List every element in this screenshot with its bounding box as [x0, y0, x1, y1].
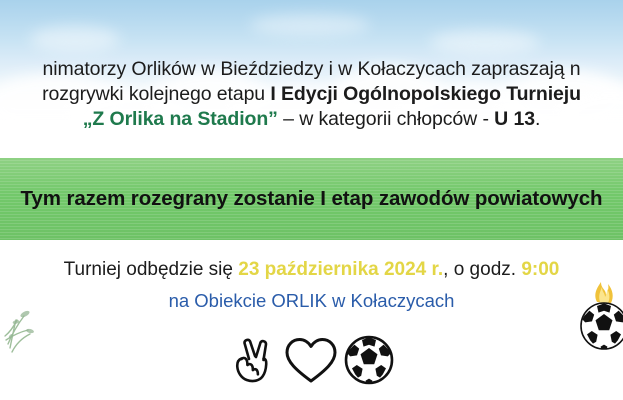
- heart-icon: [283, 334, 339, 386]
- headline-line-3: „Z Orlika na Stadion” – w kategorii chło…: [0, 107, 623, 132]
- cloud-wisp: [430, 30, 540, 54]
- cloud-wisp: [250, 14, 370, 36]
- headline-line-2-bold: I Edycji Ogólnopolskiego Turnieju: [270, 83, 581, 105]
- event-venue: na Obiekcie ORLIK w Kołaczycach: [0, 288, 623, 314]
- age-category: U 13: [494, 108, 535, 130]
- datetime-prefix: Turniej odbędzie się: [64, 259, 239, 280]
- event-datetime-line: Turniej odbędzie się 23 października 202…: [0, 257, 623, 284]
- headline-line-2: rozgrywki kolejnego etapu I Edycji Ogóln…: [0, 82, 623, 107]
- headline-line-2-plain: rozgrywki kolejnego etapu: [42, 83, 270, 105]
- poster-canvas: nimatorzy Orlików w Bieździedzy i w Koła…: [0, 0, 623, 400]
- announcement-banner: Tym razem rozegrany zostanie I etap zawo…: [0, 158, 623, 240]
- peace-hand-icon: [229, 334, 279, 386]
- datetime-middle: , o godz.: [443, 259, 521, 280]
- headline-block: nimatorzy Orlików w Bieździedzy i w Koła…: [0, 57, 623, 132]
- cloud-wisp: [30, 26, 120, 52]
- soccer-ball-icon: [343, 334, 395, 386]
- event-date: 23 października 2024 r.: [238, 259, 443, 280]
- tournament-name: „Z Orlika na Stadion”: [83, 108, 278, 130]
- headline-line-1: nimatorzy Orlików w Bieździedzy i w Koła…: [0, 57, 623, 82]
- grass-sprig-icon: [2, 292, 62, 362]
- headline-line-3-end: .: [535, 108, 540, 130]
- headline-line-3-mid: – w kategorii chłopców -: [278, 108, 494, 130]
- event-time: 9:00: [521, 259, 559, 280]
- event-details-block: Turniej odbędzie się 23 października 202…: [0, 257, 623, 314]
- flaming-soccer-ball-icon: [575, 276, 623, 356]
- peace-love-soccer-icons: [0, 334, 623, 386]
- banner-text: Tym razem rozegrany zostanie I etap zawo…: [21, 187, 603, 211]
